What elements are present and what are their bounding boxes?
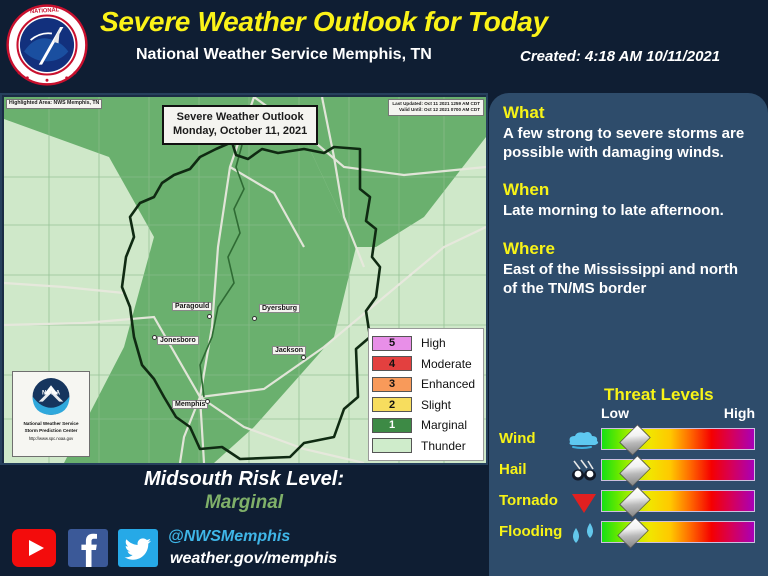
noaa-emblem-icon: NOAA xyxy=(25,376,77,420)
map-valid-until: Valid Until: Oct 12 2021 0700 AM CDT xyxy=(392,107,480,113)
map-canvas: Highlighted Area: NWS Memphis, TN Last U… xyxy=(4,97,486,463)
threat-scale-low-label: Low xyxy=(601,405,629,421)
map-outlook-title-box: Severe Weather Outlook Monday, October 1… xyxy=(162,105,318,145)
noaa-line-2: Storm Prediction Center xyxy=(13,427,89,434)
outlook-map[interactable]: Highlighted Area: NWS Memphis, TN Last U… xyxy=(0,93,488,465)
legend-swatch-enhanced: 3 xyxy=(372,377,412,392)
legend-label-marginal: Marginal xyxy=(421,418,467,432)
city-label-paragould: Paragould xyxy=(172,302,212,311)
risk-legend: 5 High 4 Moderate 3 Enhanced 2 Slight 1 … xyxy=(368,328,484,461)
legend-row-high: 5 High xyxy=(372,333,479,354)
page-subtitle: National Weather Service Memphis, TN xyxy=(136,46,432,64)
legend-label-slight: Slight xyxy=(421,398,451,412)
threat-scale-high-label: High xyxy=(724,405,755,421)
facebook-icon[interactable] xyxy=(68,529,108,567)
legend-row-enhanced: 3 Enhanced xyxy=(372,374,479,395)
threat-marker-flooding[interactable] xyxy=(617,517,648,548)
social-media-bar: @NWSMemphis weather.gov/memphis xyxy=(0,524,488,576)
info-panel: What A few strong to severe storms are p… xyxy=(489,93,768,576)
legend-swatch-moderate: 4 xyxy=(372,356,412,371)
wind-cloud-icon xyxy=(564,426,604,454)
threat-bar-hail[interactable] xyxy=(601,459,755,481)
threat-row-tornado: Tornado xyxy=(489,487,768,518)
legend-swatch-slight: 2 xyxy=(372,397,412,412)
threat-bar-tornado[interactable] xyxy=(601,490,755,512)
city-dot-paragould xyxy=(207,314,212,319)
info-heading-when: When xyxy=(503,180,756,200)
legend-row-slight: 2 Slight xyxy=(372,395,479,416)
noaa-line-1: National Weather Service xyxy=(13,420,89,427)
legend-swatch-high: 5 xyxy=(372,336,412,351)
risk-banner-title: Midsouth Risk Level: xyxy=(0,468,488,491)
legend-swatch-thunder xyxy=(372,438,412,453)
threat-marker-wind[interactable] xyxy=(619,424,650,455)
social-handle[interactable]: @NWSMemphis xyxy=(168,528,290,546)
info-heading-what: What xyxy=(503,103,756,123)
threat-bar-wind[interactable] xyxy=(601,428,755,450)
threat-label-tornado: Tornado xyxy=(499,492,558,509)
legend-swatch-marginal: 1 xyxy=(372,418,412,433)
outlook-title: Severe Weather Outlook xyxy=(173,111,307,125)
legend-row-thunder: Thunder xyxy=(372,436,479,457)
midsouth-risk-banner: Midsouth Risk Level: Marginal xyxy=(0,466,488,522)
risk-banner-value: Marginal xyxy=(0,492,488,514)
city-label-jackson: Jackson xyxy=(272,346,306,355)
map-highlight-note: Highlighted Area: NWS Memphis, TN xyxy=(6,99,102,109)
threat-label-wind: Wind xyxy=(499,430,536,447)
created-timestamp: Created: 4:18 AM 10/11/2021 xyxy=(520,48,720,65)
legend-row-moderate: 4 Moderate xyxy=(372,354,479,375)
threat-label-hail: Hail xyxy=(499,461,527,478)
threat-marker-hail[interactable] xyxy=(619,455,650,486)
info-body-what: A few strong to severe storms are possib… xyxy=(503,124,756,162)
legend-label-high: High xyxy=(421,336,446,350)
noaa-spc-credit-box: NOAA National Weather Service Storm Pred… xyxy=(12,371,90,457)
svg-text:NOAA: NOAA xyxy=(42,389,61,396)
city-dot-jonesboro xyxy=(152,335,157,340)
city-label-dyersburg: Dyersburg xyxy=(259,304,300,313)
threat-levels-title: Threat Levels xyxy=(604,385,714,405)
threat-bar-flooding[interactable] xyxy=(601,521,755,543)
legend-label-thunder: Thunder xyxy=(421,439,466,453)
info-body-where: East of the Mississippi and north of the… xyxy=(503,260,756,298)
city-label-memphis: Memphis xyxy=(172,400,208,409)
info-heading-where: Where xyxy=(503,239,756,259)
threat-row-flooding: Flooding xyxy=(489,518,768,549)
outlook-date: Monday, October 11, 2021 xyxy=(173,125,307,139)
twitter-icon[interactable] xyxy=(118,529,158,567)
page-header: NATIONAL Severe Weather Outlook for Toda… xyxy=(0,0,768,90)
page-title: Severe Weather Outlook for Today xyxy=(100,6,548,38)
threat-row-hail: Hail xyxy=(489,456,768,487)
hailstones-icon xyxy=(564,457,604,485)
city-dot-memphis xyxy=(205,399,210,404)
tornado-icon xyxy=(564,488,604,516)
city-dot-dyersburg xyxy=(252,316,257,321)
social-website[interactable]: weather.gov/memphis xyxy=(170,550,337,568)
city-label-jonesboro: Jonesboro xyxy=(157,336,199,345)
city-dot-jackson xyxy=(301,355,306,360)
nws-seal-icon: NATIONAL xyxy=(6,4,88,86)
threat-row-wind: Wind xyxy=(489,425,768,456)
legend-row-marginal: 1 Marginal xyxy=(372,415,479,436)
map-validity-note: Last Updated: Oct 11 2021 1259 AM CDT Va… xyxy=(388,99,484,116)
threat-marker-tornado[interactable] xyxy=(619,486,650,517)
threat-label-flooding: Flooding xyxy=(499,523,562,540)
legend-label-moderate: Moderate xyxy=(421,357,472,371)
info-body-when: Late morning to late afternoon. xyxy=(503,201,756,220)
noaa-url: http://www.spc.noaa.gov xyxy=(13,436,89,441)
raindrops-icon xyxy=(564,519,604,547)
youtube-icon[interactable] xyxy=(12,529,56,567)
legend-label-enhanced: Enhanced xyxy=(421,377,475,391)
